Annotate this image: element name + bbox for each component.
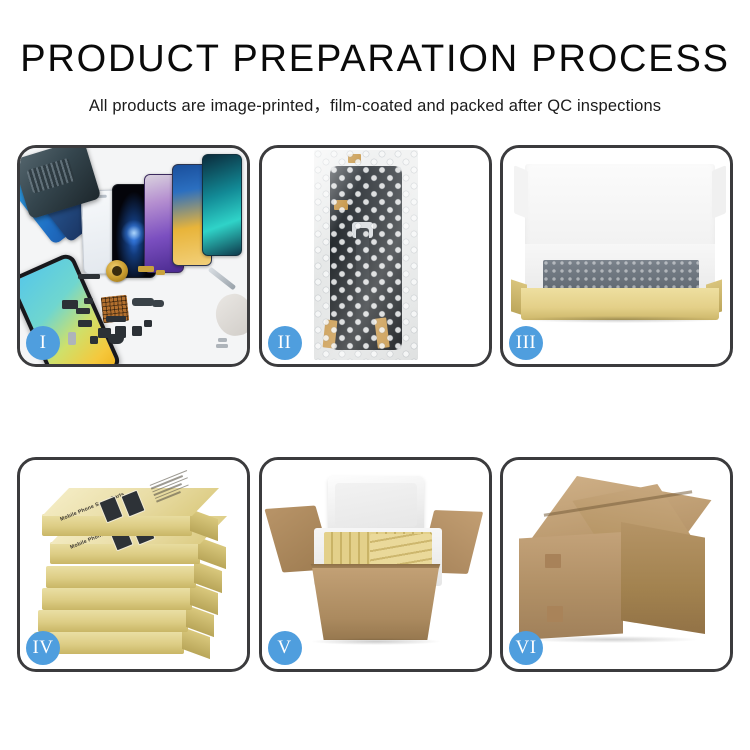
process-step-5[interactable]: V — [259, 457, 492, 672]
page-subtitle: All products are image-printed，film-coat… — [0, 78, 750, 116]
process-step-2[interactable]: II — [259, 145, 492, 367]
step-badge-6: VI — [509, 631, 543, 665]
process-step-1[interactable]: I — [17, 145, 250, 367]
carton-tape-lower-icon — [547, 606, 563, 622]
process-step-4[interactable]: Mobile Phone Spare Parts Mobile Phone Sp… — [17, 457, 250, 672]
carton-front-face-icon — [519, 532, 623, 640]
foam-box-lid-icon — [328, 476, 424, 534]
step-badge-1: I — [26, 326, 60, 360]
process-step-grid: I II — [17, 145, 733, 672]
page-title: PRODUCT PREPARATION PROCESS — [0, 0, 750, 78]
step-badge-5: V — [268, 631, 302, 665]
teal-phone-icon — [202, 154, 242, 256]
step-badge-2: II — [268, 326, 302, 360]
process-step-3[interactable]: III — [500, 145, 733, 367]
retail-box-stack-icon: Mobile Phone Spare Parts Mobile Phone Sp… — [28, 480, 244, 658]
speaker-coil-icon — [106, 260, 128, 282]
carton-side-face-icon — [621, 522, 705, 634]
carton-tape-upper-icon — [545, 554, 561, 568]
page-header: PRODUCT PREPARATION PROCESS All products… — [0, 0, 750, 116]
step-badge-4: IV — [26, 631, 60, 665]
carton-body-icon — [304, 568, 448, 640]
step-badge-3: III — [509, 326, 543, 360]
bubble-bag-icon — [314, 150, 418, 360]
process-step-6[interactable]: VI — [500, 457, 733, 672]
